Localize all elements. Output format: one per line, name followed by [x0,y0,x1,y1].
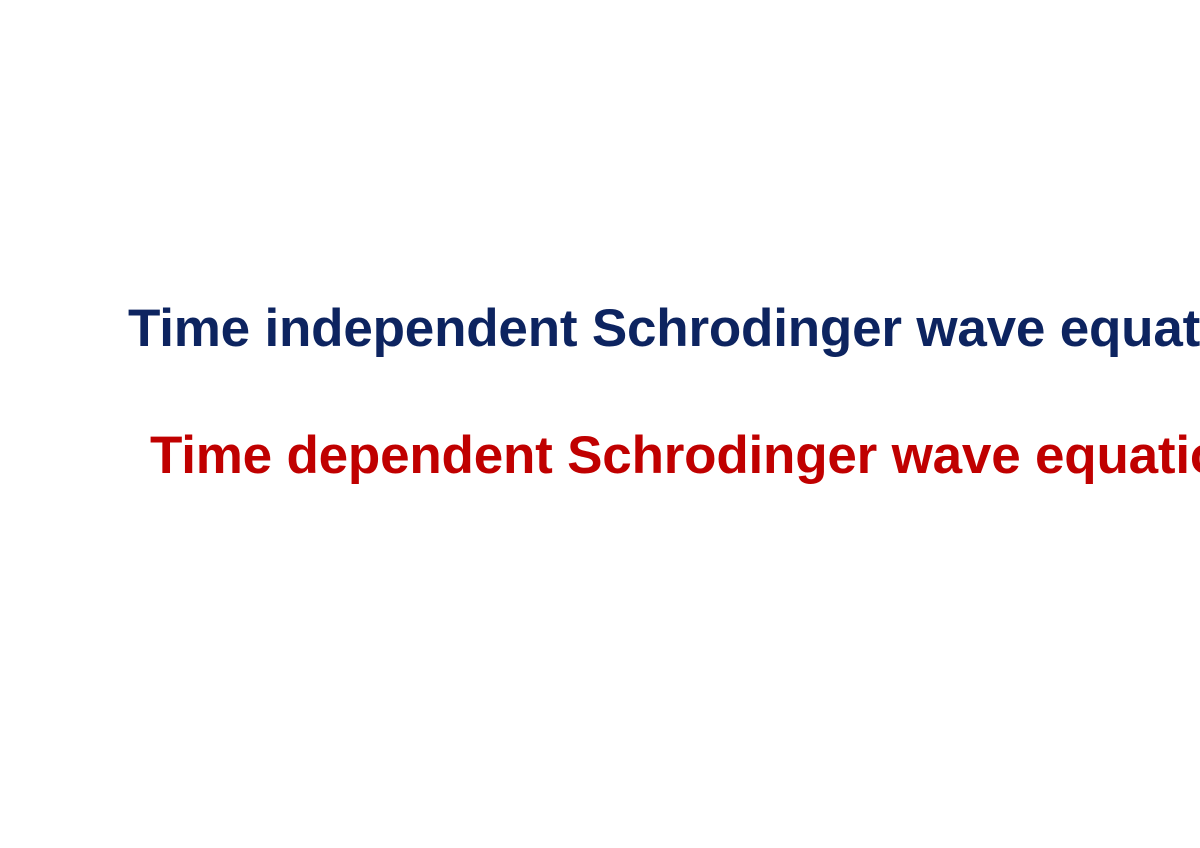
slide-canvas: Time independent Schrodinger wave equati… [0,0,1200,848]
heading-time-independent: Time independent Schrodinger wave equati… [128,302,1200,355]
heading-time-dependent: Time dependent Schrodinger wave equation [150,429,1200,482]
